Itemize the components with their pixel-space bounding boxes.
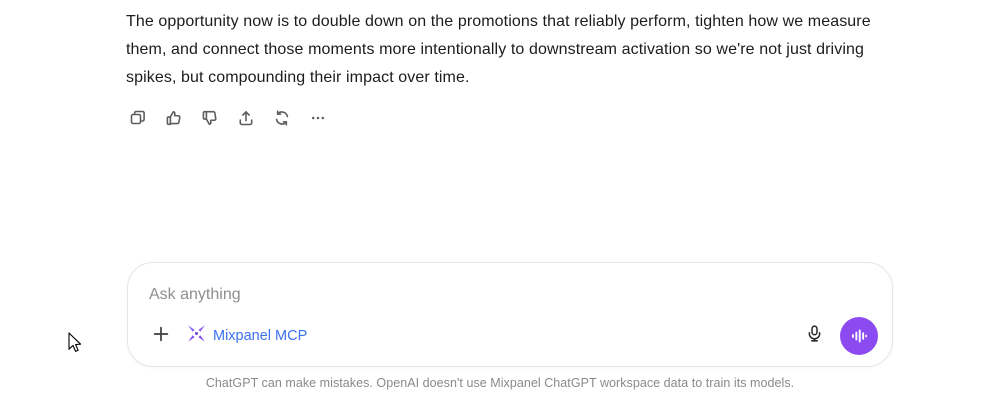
composer-right-actions — [799, 317, 878, 355]
more-options-button[interactable] — [304, 104, 332, 132]
voice-mode-button[interactable] — [840, 317, 878, 355]
microphone-button[interactable] — [799, 321, 829, 351]
composer-left-actions: Mixpanel MCP — [146, 320, 315, 352]
assistant-message-text: The opportunity now is to double down on… — [126, 8, 886, 92]
copy-button[interactable] — [124, 104, 152, 132]
composer-toolbar: Mixpanel MCP — [128, 313, 892, 359]
share-button[interactable] — [232, 104, 260, 132]
mcp-connector-chip[interactable]: Mixpanel MCP — [182, 320, 315, 352]
thumbs-down-button[interactable] — [196, 104, 224, 132]
more-horizontal-icon — [309, 109, 327, 127]
add-attachment-button[interactable] — [146, 321, 176, 351]
mcp-connector-label: Mixpanel MCP — [213, 328, 307, 344]
thumbs-down-icon — [201, 109, 219, 127]
regenerate-button[interactable] — [268, 104, 296, 132]
plus-icon — [151, 324, 171, 349]
share-upload-icon — [237, 109, 255, 127]
footer-disclaimer: ChatGPT can make mistakes. OpenAI doesn'… — [0, 376, 1000, 390]
thumbs-up-icon — [165, 109, 183, 127]
microphone-icon — [805, 324, 824, 348]
message-action-toolbar — [124, 104, 332, 132]
assistant-message: The opportunity now is to double down on… — [126, 8, 886, 92]
chat-input[interactable] — [149, 284, 871, 306]
waveform-icon — [848, 325, 870, 347]
thumbs-up-button[interactable] — [160, 104, 188, 132]
regenerate-icon — [273, 109, 291, 127]
composer: Mixpanel MCP — [127, 262, 893, 367]
mixpanel-logo-icon — [187, 324, 206, 348]
mouse-cursor — [68, 332, 84, 354]
copy-icon — [129, 109, 147, 127]
